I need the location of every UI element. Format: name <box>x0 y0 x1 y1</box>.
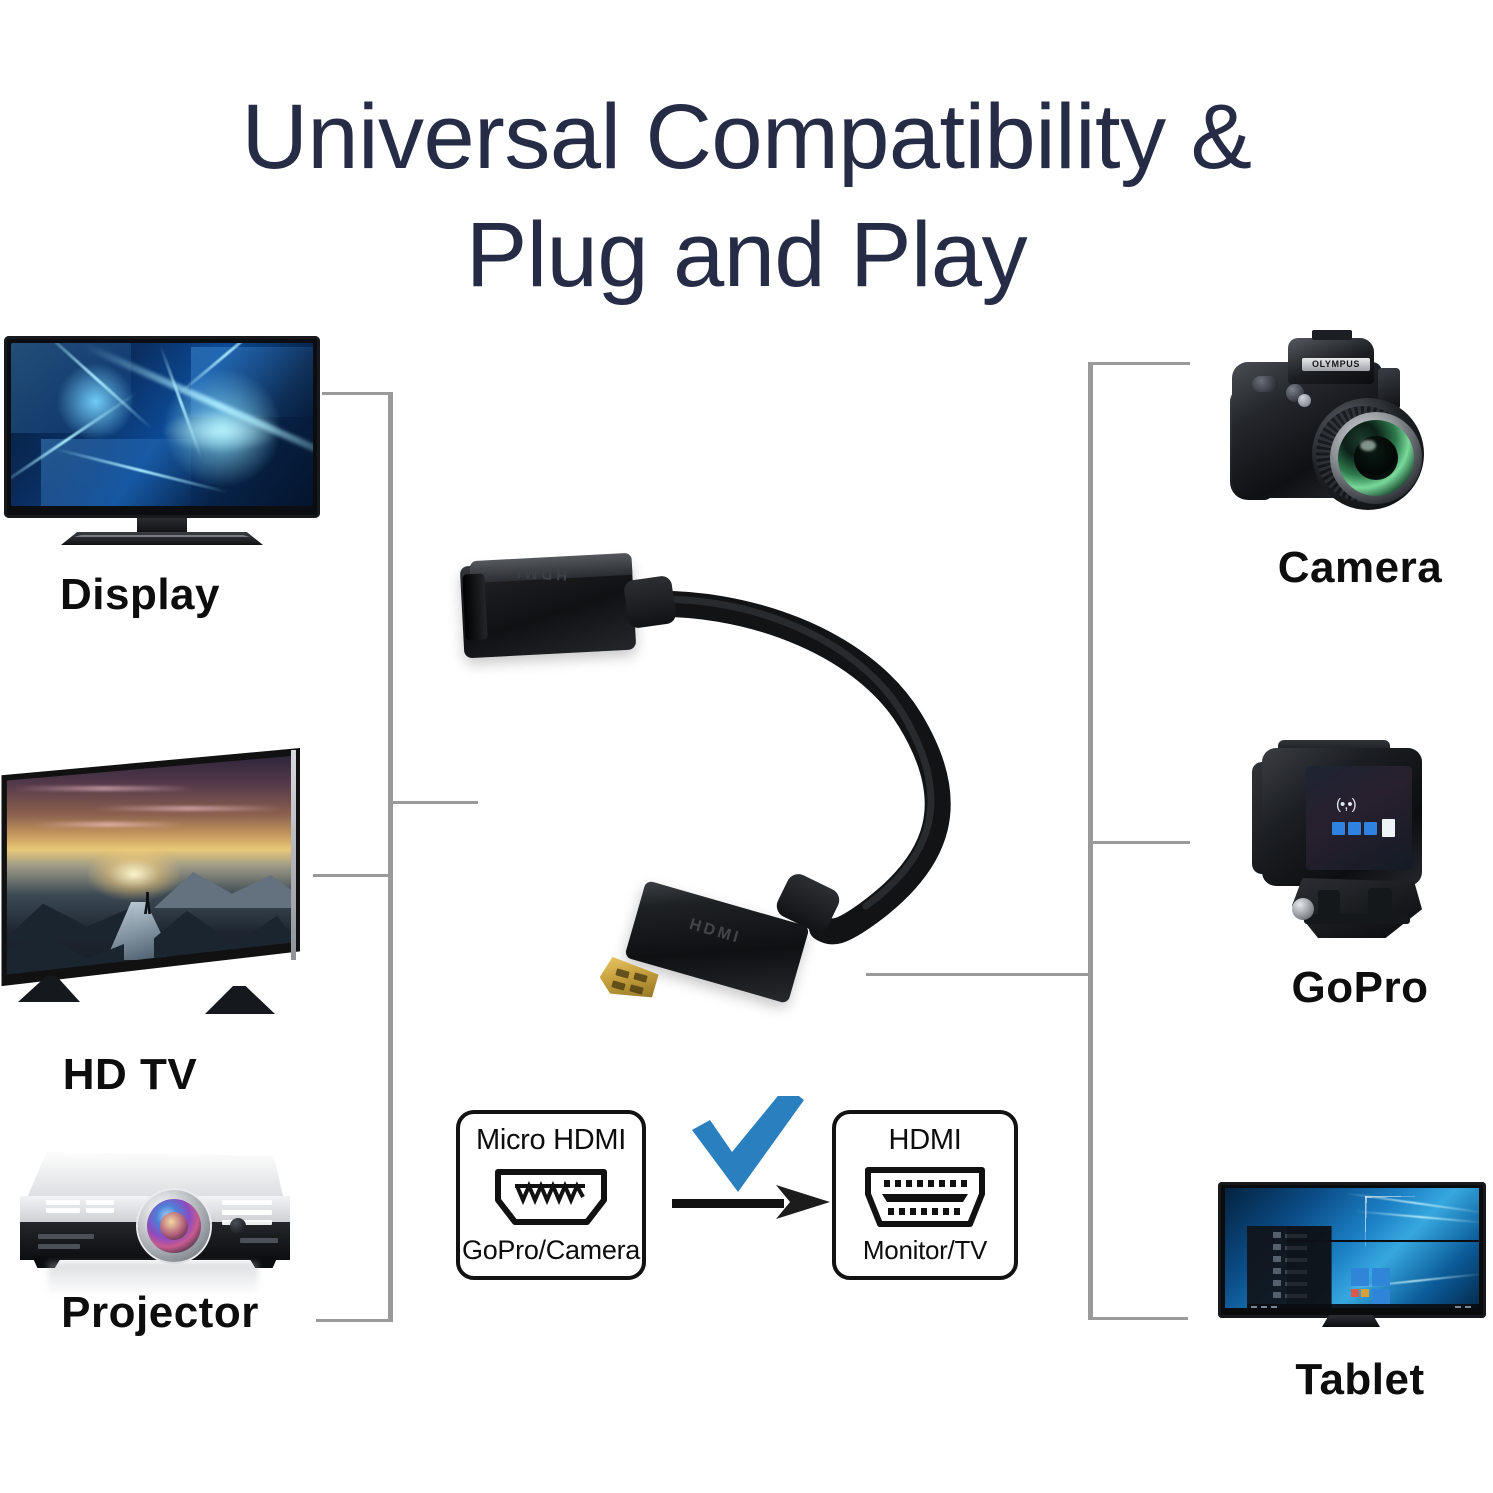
target-port-card: HDMI Monitor/TV <box>832 1110 1018 1280</box>
device-label-hdtv: HD TV <box>20 1050 240 1100</box>
flat-tv-icon <box>4 336 320 548</box>
device-label-projector: Projector <box>20 1288 300 1338</box>
source-port-title: Micro HDMI <box>460 1124 642 1157</box>
dslr-camera-icon: OLYMPUS <box>1226 328 1456 533</box>
projector-icon <box>8 1152 300 1302</box>
page-title: Universal Compatibility & Plug and Play <box>0 78 1493 314</box>
left-bracket-arm-display <box>322 392 390 395</box>
hdmi-adapter-cable: HDMI HDMI <box>440 530 1060 1090</box>
arrow-right-icon <box>672 1185 830 1219</box>
right-bracket-arm-camera <box>1088 362 1190 365</box>
right-bracket-arm-tablet <box>1088 1317 1188 1320</box>
title-line-1: Universal Compatibility & <box>0 78 1493 196</box>
action-camera-icon: (•,•) <box>1248 736 1456 948</box>
target-port-subtitle: Monitor/TV <box>836 1235 1014 1266</box>
device-label-display: Display <box>20 570 260 620</box>
source-port-card: Micro HDMI GoPro/Camera <box>456 1110 646 1280</box>
target-port-title: HDMI <box>836 1124 1014 1157</box>
device-label-camera: Camera <box>1240 543 1480 593</box>
hdmi-port-icon <box>862 1164 988 1230</box>
curved-tv-icon <box>0 748 318 1038</box>
source-port-subtitle: GoPro/Camera <box>460 1235 642 1266</box>
windows-tablet-icon <box>1218 1182 1486 1334</box>
left-bracket-arm-projector <box>316 1319 390 1322</box>
left-bracket-arm-hdtv <box>313 874 390 877</box>
device-label-gopro: GoPro <box>1240 963 1480 1013</box>
title-line-2: Plug and Play <box>0 196 1493 314</box>
right-bracket-arm-gopro <box>1088 841 1190 844</box>
camera-brand-label: OLYMPUS <box>1302 358 1370 371</box>
left-bracket-spine <box>388 392 393 1322</box>
micro-hdmi-port-icon <box>491 1166 611 1228</box>
device-label-tablet: Tablet <box>1240 1355 1480 1405</box>
